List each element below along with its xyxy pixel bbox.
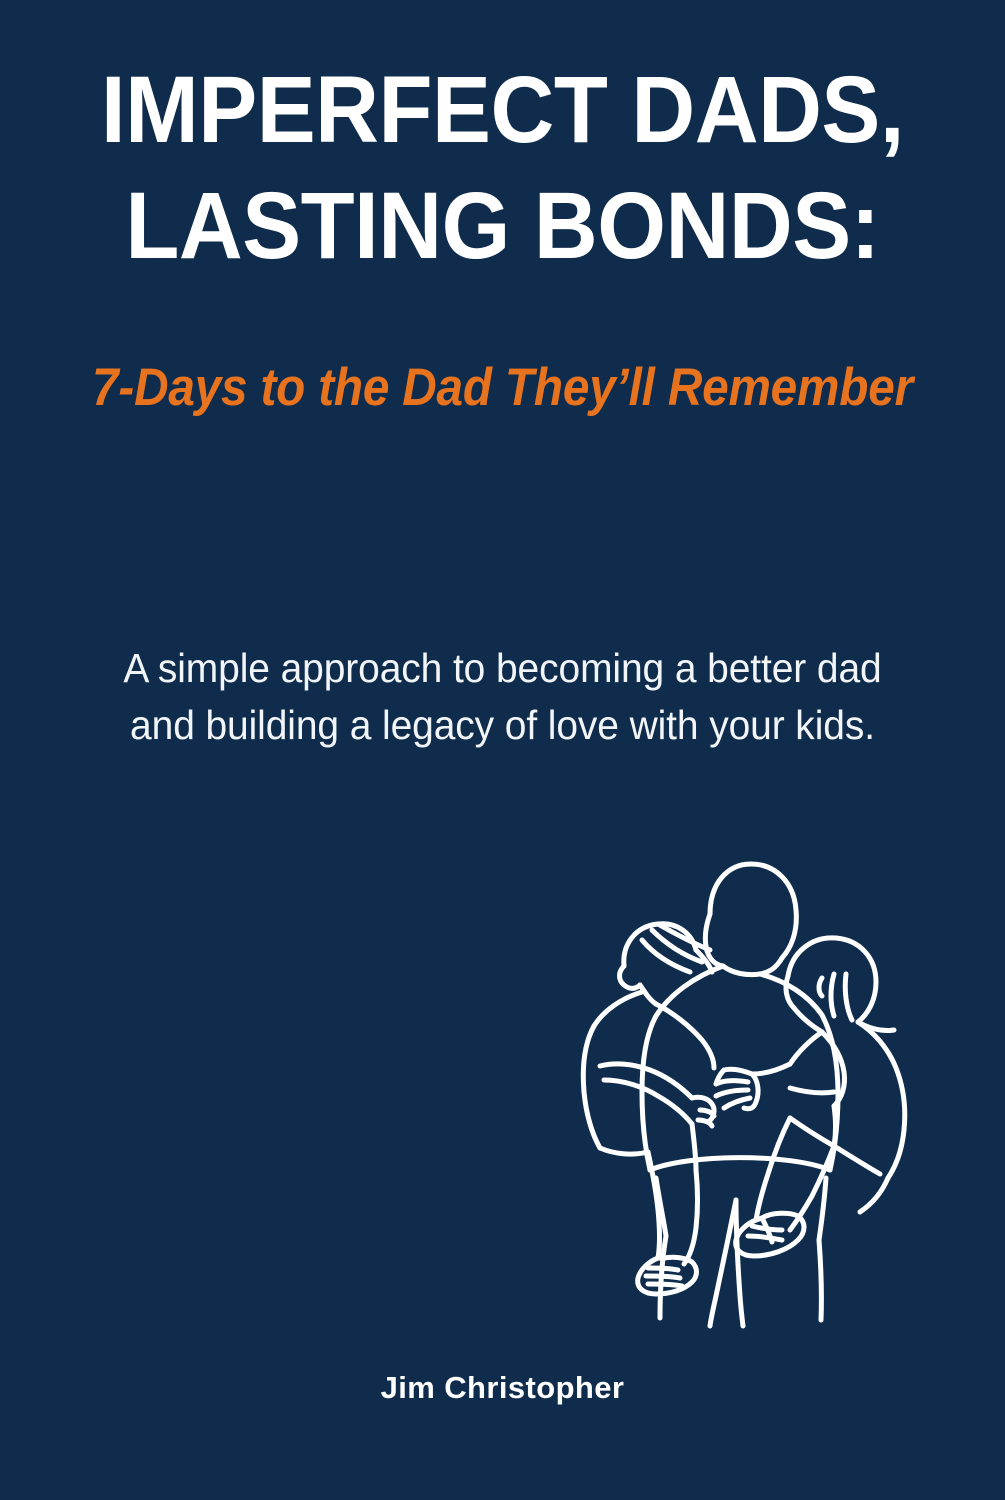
tagline-line-2: and building a legacy of love with your … [25, 697, 980, 754]
title-line-1: IMPERFECT DADS, [35, 52, 970, 168]
right-child-shoe-lace-2 [748, 1236, 782, 1240]
title-line-2: LASTING BONDS: [35, 168, 970, 284]
dad-neck-right [760, 958, 782, 974]
left-child-shoe-lace-1 [648, 1268, 678, 1270]
right-child-arm-upper [790, 1032, 822, 1064]
subtitle: 7-Days to the Dad They’ll Remember [50, 355, 955, 421]
right-child-leg-far [860, 1178, 888, 1212]
right-child-arm-lower [752, 1064, 790, 1074]
father-and-children-illustration [560, 848, 940, 1353]
dad-head-outline [710, 864, 796, 958]
right-child-finger-1 [724, 1069, 752, 1074]
dad-nape-line [705, 914, 723, 966]
left-child-shoe-lace-3 [648, 1284, 682, 1286]
left-child-finger-2 [698, 1120, 712, 1126]
right-child-hip-right [888, 1130, 904, 1178]
dad-shoulder-right [760, 974, 822, 1015]
right-child-hair-strand-2 [831, 974, 834, 1016]
right-child-shirt-side [834, 1106, 836, 1146]
left-child-finger-1 [700, 1110, 714, 1116]
dad-pant-leg-inner [710, 1200, 736, 1326]
right-child-back [858, 1022, 905, 1130]
left-child-arm-upper [656, 1004, 714, 1068]
left-child-face-profile [620, 966, 641, 988]
right-child-forearm-under [790, 1088, 834, 1093]
author-name: Jim Christopher [0, 1368, 1005, 1408]
left-child-side-right [692, 1124, 696, 1170]
tagline: A simple approach to becoming a better d… [25, 640, 980, 754]
page-title: IMPERFECT DADS, LASTING BONDS: [0, 52, 1005, 284]
left-child-shirt-hem [600, 1148, 648, 1154]
right-child-shirt-hem [790, 1118, 834, 1146]
right-child-leg-front [756, 1118, 790, 1220]
dad-pant-crease-center [736, 1200, 743, 1326]
left-child-leg-back [684, 1170, 698, 1264]
right-child-face-profile [786, 976, 794, 1008]
right-child-hair-strand-3 [845, 974, 852, 1020]
dad-pant-leg-right-outer [819, 1240, 821, 1320]
left-child-neck [640, 985, 656, 1004]
left-child-shoe-lace-2 [646, 1276, 680, 1278]
dad-collar [723, 966, 760, 975]
right-child-hip-line [834, 1146, 880, 1174]
right-child-hair-strand-1 [819, 978, 822, 996]
left-child-shoulder [594, 992, 642, 1026]
right-child-finger-3 [716, 1090, 748, 1096]
left-child-head-outline [624, 924, 696, 966]
tagline-line-1: A simple approach to becoming a better d… [25, 640, 980, 697]
book-cover: IMPERFECT DADS, LASTING BONDS: 7-Days to… [0, 0, 1005, 1500]
right-child-finger-2 [716, 1081, 748, 1084]
dad-hip-right [819, 1178, 826, 1240]
left-child-back [583, 1026, 600, 1148]
dad-shirt-hem [650, 1158, 830, 1170]
